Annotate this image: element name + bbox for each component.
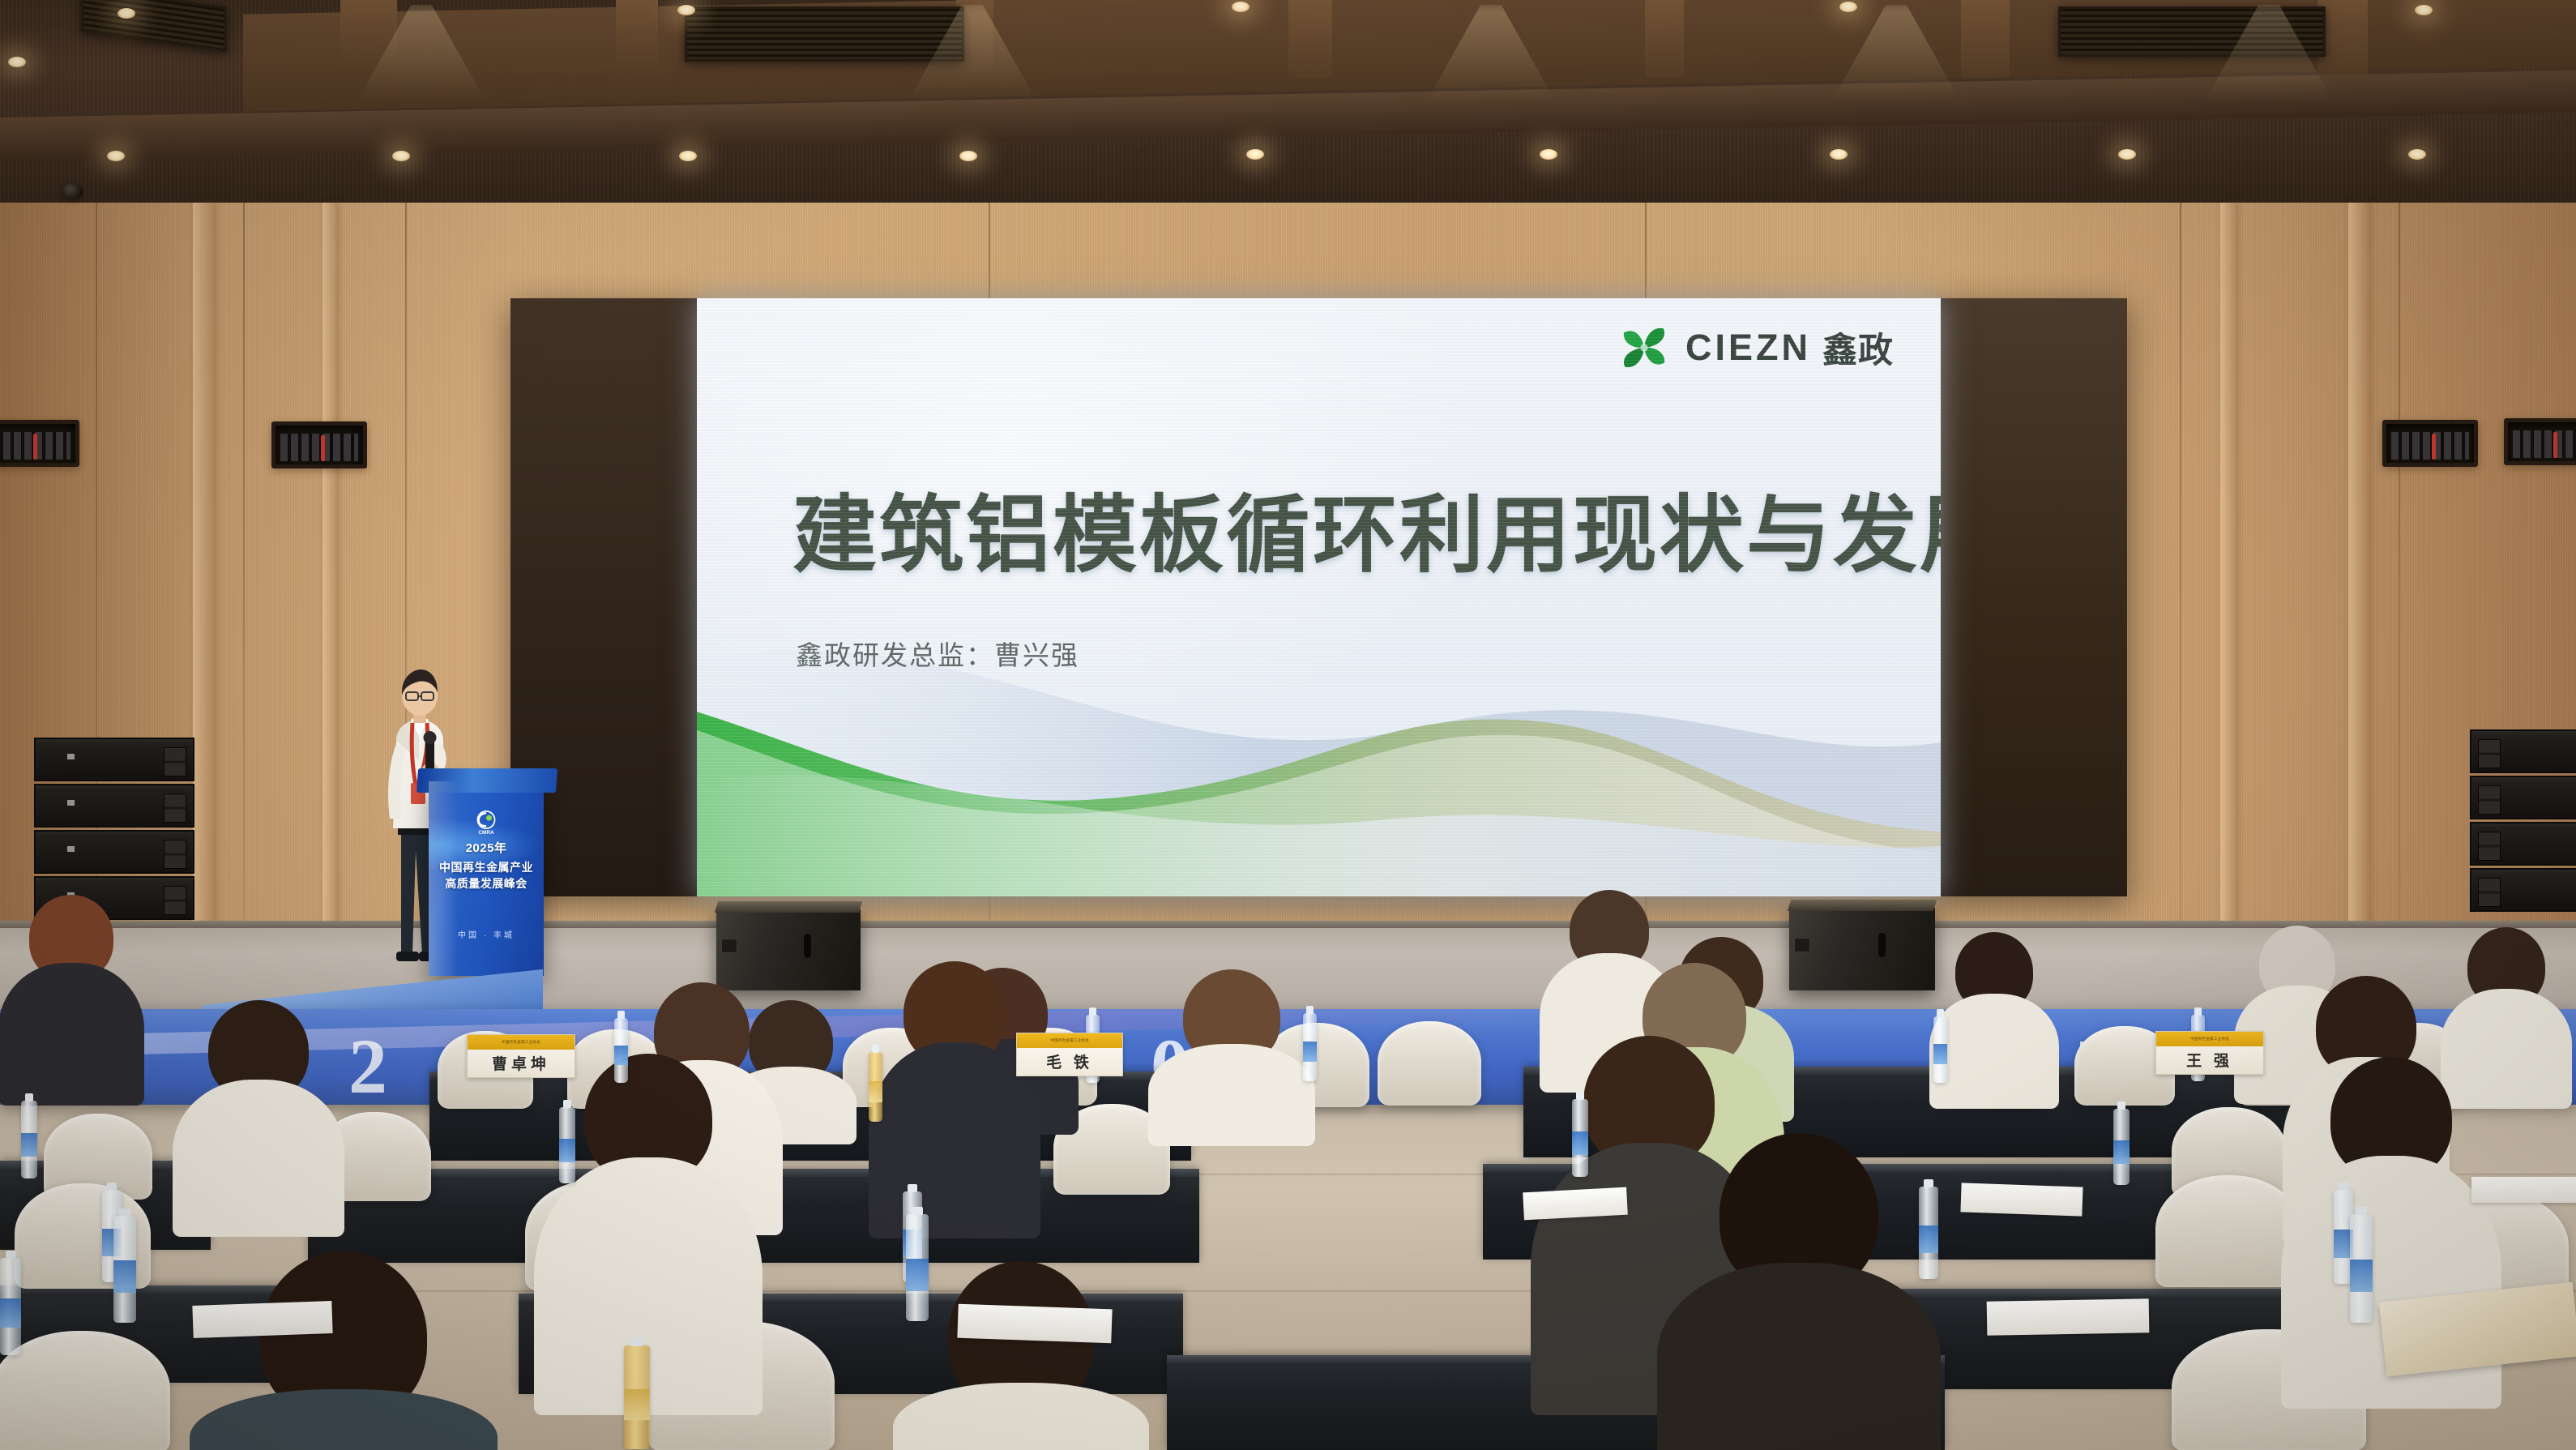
downlight — [392, 151, 410, 161]
name-card-name: 毛 铁 — [1017, 1048, 1122, 1076]
line-array-speaker-right — [2470, 729, 2576, 914]
niche-marker — [2432, 434, 2436, 460]
name-card-org: 中国有色金属工业协会 — [1050, 1038, 1089, 1043]
water-bottle — [2113, 1109, 2130, 1185]
line-array-module — [2470, 822, 2576, 866]
downlight — [959, 151, 977, 161]
name-card: 中国有色金属工业协会 曹卓坤 — [467, 1034, 575, 1078]
ceiling-beam — [1645, 0, 1684, 78]
document-sheet — [1987, 1298, 2150, 1335]
presentation-slide: CIEZN 鑫政 建筑铝模板循环利用现状与发展趋势 鑫政研发总监：曹兴强 — [697, 298, 1941, 896]
person-body — [1657, 1263, 1941, 1450]
niche-marker — [321, 435, 325, 461]
bottle-label — [869, 1081, 882, 1102]
water-bottle — [21, 1101, 37, 1178]
water-bottle — [1919, 1187, 1938, 1279]
monitor-handle — [1878, 933, 1886, 957]
document-sheet — [1523, 1187, 1628, 1221]
security-camera-icon — [62, 183, 83, 199]
monitor-connector — [1794, 938, 1810, 952]
downlight — [1839, 2, 1857, 12]
downlight — [1246, 149, 1264, 160]
chair — [2155, 1175, 2301, 1287]
line-array-module — [34, 830, 194, 874]
led-screen: CIEZN 鑫政 建筑铝模板循环利用现状与发展趋势 鑫政研发总监：曹兴强 — [511, 298, 2127, 896]
water-bottle — [906, 1214, 929, 1321]
audience-person — [1151, 969, 1313, 1141]
wall-panel-seam — [243, 203, 245, 932]
niche-marker — [2553, 432, 2557, 458]
downlight — [117, 8, 135, 19]
led-banner-glyph: 2 — [348, 1021, 387, 1105]
bottle-label — [559, 1139, 575, 1161]
line-array-module — [2470, 729, 2576, 773]
name-card-org: 中国有色金属工业协会 — [2190, 1037, 2229, 1042]
water-bottle — [614, 1018, 628, 1083]
wall-panel-seam — [2180, 203, 2181, 932]
monitor-connector — [721, 939, 737, 953]
name-card-org-bar: 中国有色金属工业协会 — [1017, 1033, 1122, 1048]
bottle-label — [624, 1389, 650, 1420]
bottle-label — [614, 1046, 628, 1065]
document-sheet — [2471, 1177, 2576, 1203]
bottle-label — [1919, 1225, 1938, 1253]
document-sheet — [957, 1304, 1112, 1344]
chair — [1378, 1021, 1481, 1106]
ceiling-beam — [1288, 0, 1332, 78]
podium-location: 中国 · 丰城 — [429, 928, 544, 940]
water-bottle — [113, 1216, 136, 1323]
person-body — [869, 1042, 1040, 1238]
name-card-org-bar: 中国有色金属工业协会 — [2156, 1032, 2263, 1046]
tea-bottle — [624, 1345, 650, 1449]
person-body — [173, 1080, 344, 1237]
downlight — [2415, 5, 2433, 15]
downlight — [8, 57, 26, 67]
downlight — [2118, 149, 2136, 160]
brand-logo: CIEZN 鑫政 — [1617, 321, 1894, 374]
person-body — [0, 963, 144, 1106]
podium-title: 2025年 中国再生金属产业 高质量发展峰会 — [429, 840, 544, 892]
svg-text:CMRA: CMRA — [478, 830, 494, 836]
wall-pilaster — [193, 203, 214, 932]
chair — [0, 1331, 170, 1450]
water-bottle — [1933, 1016, 1947, 1083]
water-bottle — [559, 1107, 575, 1183]
downlight — [107, 151, 125, 161]
name-card: 中国有色金属工业协会 王 强 — [2155, 1031, 2264, 1075]
audience-person — [175, 1000, 342, 1227]
podium-year: 2025年 — [429, 840, 544, 858]
screen-bezel-right — [1941, 298, 2127, 896]
line-array-module — [2470, 868, 2576, 912]
bottle-label — [1933, 1044, 1947, 1064]
wall-panel-seam — [2399, 203, 2400, 932]
tea-bottle — [869, 1052, 882, 1122]
water-bottle — [2350, 1214, 2373, 1323]
slide-subtitle: 鑫政研发总监：曹兴强 — [796, 634, 1079, 673]
downlight — [677, 5, 695, 15]
person-body — [1148, 1044, 1315, 1146]
bottle-label — [906, 1259, 929, 1291]
bottle-label — [1572, 1131, 1588, 1155]
audience-person — [0, 895, 143, 1097]
wall-pilaster — [2220, 203, 2236, 932]
water-bottle — [1303, 1013, 1317, 1081]
wall-niche — [2382, 420, 2478, 467]
bottle-label — [1303, 1042, 1317, 1062]
podium: CMRA 2025年 中国再生金属产业 高质量发展峰会 中国 · 丰城 — [429, 781, 544, 976]
line-array-module — [34, 738, 194, 781]
cmra-logo-icon: CMRA — [472, 809, 501, 836]
audience-person — [1661, 1133, 1937, 1450]
person-body — [893, 1383, 1149, 1450]
wall-niche — [0, 420, 79, 467]
ceiling-vent — [685, 6, 964, 62]
podium-line-2: 中国再生金属产业 — [439, 861, 533, 874]
name-card-org-bar: 中国有色金属工业协会 — [468, 1035, 575, 1050]
name-card-name: 王 强 — [2156, 1046, 2263, 1074]
brand-logo-latin: CIEZN — [1685, 327, 1811, 369]
bottle-label — [0, 1298, 21, 1328]
ceiling-beam — [616, 0, 658, 78]
audience-person — [899, 1261, 1143, 1450]
downlight — [1540, 149, 1557, 160]
stage-monitor-right — [1789, 908, 1935, 990]
name-card: 中国有色金属工业协会 毛 铁 — [1016, 1033, 1123, 1076]
name-card-name: 曹卓坤 — [468, 1050, 575, 1077]
document-sheet — [1960, 1183, 2083, 1216]
person-body — [190, 1389, 498, 1450]
wall-niche — [2504, 418, 2576, 465]
ceiling — [0, 0, 2576, 217]
line-array-module — [34, 784, 194, 828]
water-bottle — [1572, 1099, 1588, 1177]
brand-logo-cjk: 鑫政 — [1822, 323, 1894, 373]
ciezn-pinwheel-logo-icon — [1617, 321, 1671, 374]
document-sheet — [192, 1301, 332, 1338]
wall-pilaster — [2348, 203, 2369, 932]
name-card-org: 中国有色金属工业协会 — [502, 1040, 540, 1045]
bottle-label — [113, 1260, 136, 1293]
downlight — [679, 151, 697, 161]
audience-person — [872, 961, 1037, 1229]
wall-pilaster — [323, 203, 337, 932]
wall-niche — [271, 421, 367, 468]
brand-logo-text: CIEZN 鑫政 — [1685, 323, 1894, 373]
podium-line-3: 高质量发展峰会 — [445, 877, 528, 890]
audience-person — [1932, 932, 2057, 1102]
audience-person — [198, 1251, 489, 1450]
bottle-label — [21, 1133, 37, 1157]
downlight — [1830, 149, 1848, 160]
bottle-label — [2350, 1260, 2373, 1292]
water-bottle — [0, 1258, 21, 1355]
monitor-handle — [804, 934, 811, 958]
ceiling-beam — [1961, 0, 2010, 78]
slide-title: 建筑铝模板循环利用现状与发展趋势 — [792, 490, 1941, 582]
downlight — [1232, 2, 1250, 12]
person-body — [1929, 994, 2059, 1109]
downlight — [2408, 149, 2426, 160]
line-array-module — [2470, 776, 2576, 819]
conference-hall-photo: CIEZN 鑫政 建筑铝模板循环利用现状与发展趋势 鑫政研发总监：曹兴强 — [0, 0, 2576, 1450]
stage-monitor-left — [716, 909, 861, 990]
bottle-label — [2113, 1140, 2130, 1163]
niche-marker — [33, 434, 37, 460]
